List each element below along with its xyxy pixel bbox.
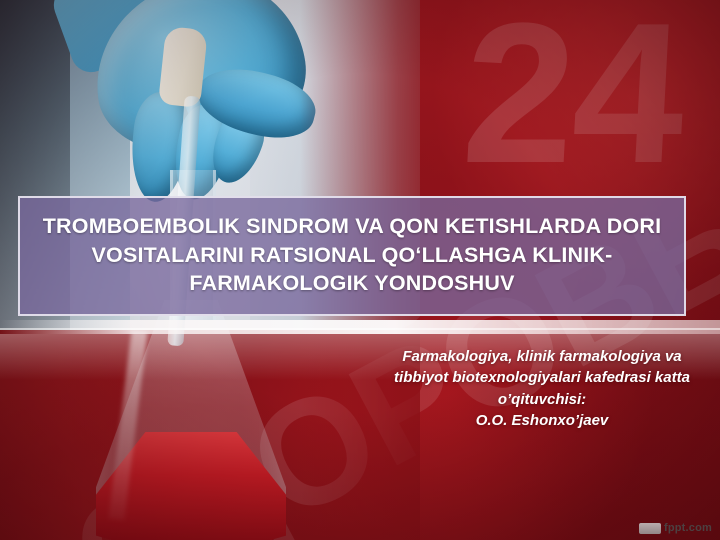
title-box: TROMBOEMBOLIK SINDROM VA QON KETISHLARDA…: [18, 196, 686, 316]
divider-band: [0, 320, 720, 334]
presentation-slide: 24 ЗДОРОВЬЕ TROMBOEMBOLIK SINDROM VA QON…: [0, 0, 720, 540]
author-box: Farmakologiya, klinik farmakologiya va t…: [382, 346, 702, 431]
slide-title: TROMBOEMBOLIK SINDROM VA QON KETISHLARDA…: [36, 212, 668, 298]
footer-brand-label: fppt.com: [664, 522, 712, 534]
divider-line: [0, 328, 720, 330]
footer-logo[interactable]: fppt.com: [639, 522, 712, 534]
fppt-logo-icon: [639, 523, 661, 534]
author-credits: Farmakologiya, klinik farmakologiya va t…: [382, 346, 702, 431]
